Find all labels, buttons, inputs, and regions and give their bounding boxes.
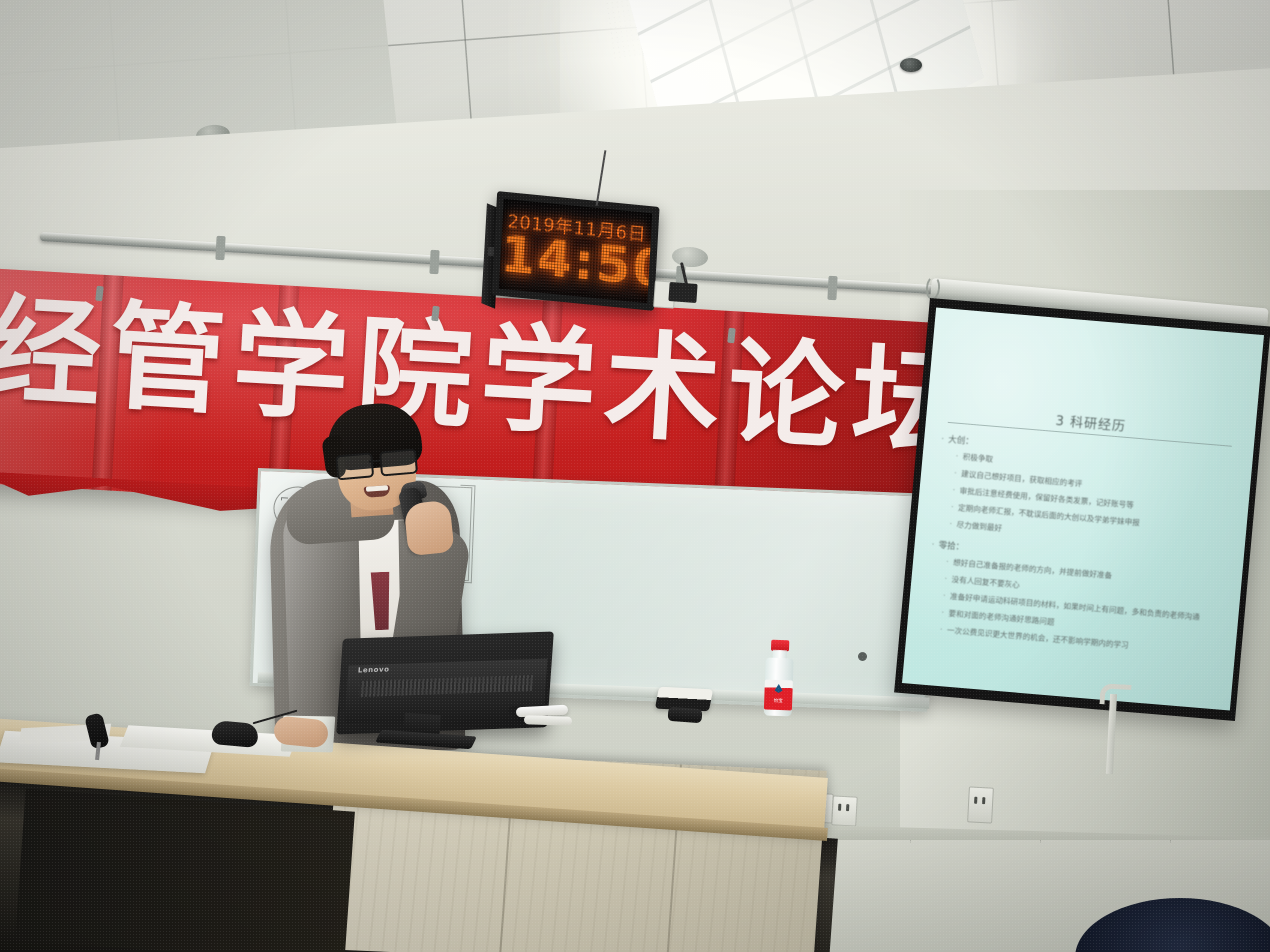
slide-bullet: 尽力做到最好 — [956, 520, 1002, 533]
power-plug-icon — [668, 282, 697, 303]
wall-outlet[interactable] — [831, 795, 858, 826]
presenter-hand — [403, 500, 454, 557]
rail-bracket — [429, 250, 439, 274]
slide-bullet: 建议自己想好项目，获取相应的考评 — [961, 469, 1083, 488]
led-clock-time: 14:50 — [499, 229, 650, 293]
whiteboard-marker[interactable] — [524, 715, 572, 726]
led-wall-clock: 2019年11月6日 14:50 — [491, 191, 659, 311]
rail-bracket — [215, 236, 225, 260]
slide-bullet: 积极争取 — [962, 452, 993, 464]
whiteboard-magnet-icon — [858, 652, 867, 661]
sprinkler-head-icon — [900, 58, 922, 72]
wall-outlet[interactable] — [967, 786, 994, 823]
monitor-brand-label: Lenovo — [358, 665, 390, 674]
water-bottle[interactable]: 怡宝 — [763, 639, 796, 716]
slide-bullet: 要和对面的老师沟通好思路问题 — [948, 609, 1055, 627]
rail-bracket — [827, 276, 837, 300]
projection-screen: 3 科研经历 ·大创： ·积极争取 ·建议自己想好项目，获取相应的考评 ·审批后… — [894, 298, 1270, 721]
cable-clamp-icon — [668, 707, 703, 723]
slide-section-heading: 零拾： — [938, 541, 964, 553]
podium-lower-shelf — [15, 789, 355, 952]
projection-screen-surface: 3 科研经历 ·大创： ·积极争取 ·建议自己想好项目，获取相应的考评 ·审批后… — [902, 308, 1264, 711]
bottle-brand-text: 怡宝 — [765, 698, 791, 705]
slide-section-heading: 大创： — [948, 435, 974, 447]
slide-body: ·大创： ·积极争取 ·建议自己想好项目，获取相应的考评 ·审批后注意经费使用，… — [919, 432, 1243, 665]
bottle-label — [764, 680, 793, 711]
slide-bullet: 没有人回复不要灰心 — [951, 575, 1020, 590]
classroom-photo-scene: 经管学院学术论坛 2019年11月6日 14:50 ⌐⌐ 155 <55 <1 … — [0, 0, 1270, 952]
